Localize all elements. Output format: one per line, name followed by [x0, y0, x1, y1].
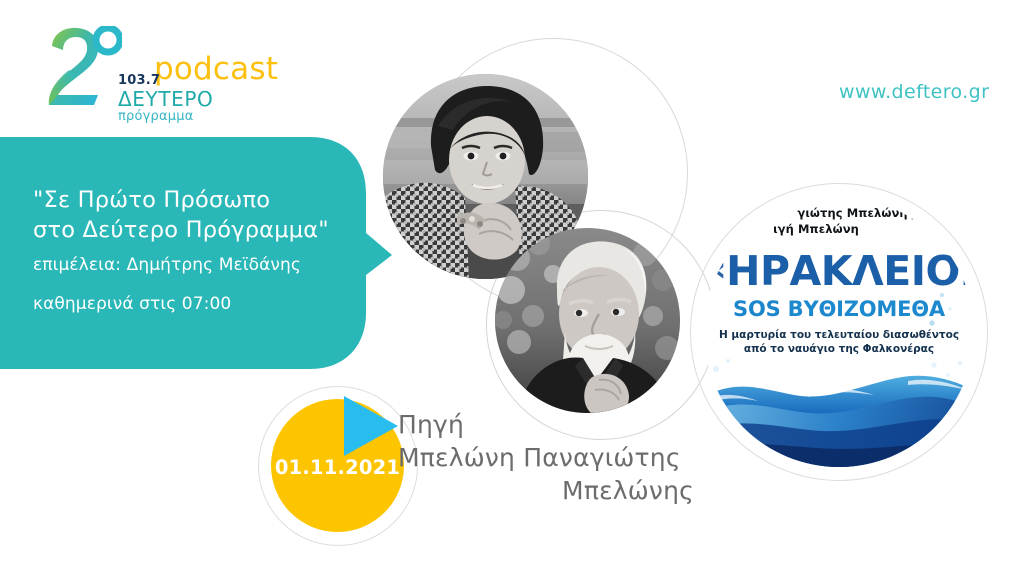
book-title: «ΗΡΑΚΛΕΙΟΝ»: [704, 251, 974, 292]
source-credit: Πηγή Μπελώνη Παναγιώτης Μπελώνης: [398, 408, 718, 507]
credit-line-2: Μπελώνη Παναγιώτης: [398, 441, 718, 474]
book-subtitle-sos: SOS: [733, 297, 781, 321]
book-author-line-1: γιώτης Μπελώνης: [704, 205, 974, 221]
guest-photo-man: [495, 228, 680, 413]
book-blurb-line-2: από το ναυάγιο της Φαλκονέρας: [704, 342, 974, 356]
deftero-two-degree-icon: [44, 26, 122, 106]
book-water-illustration: [704, 357, 974, 467]
date-badge-text: 01.11.2021: [271, 456, 404, 479]
bubble-text-block: "Σε Πρώτο Πρόσωπο στο Δεύτερο Πρόγραμμα"…: [33, 185, 363, 320]
book-title-text: ΗΡΑΚΛΕΙΟΝ: [726, 247, 974, 295]
bubble-line-1: "Σε Πρώτο Πρόσωπο: [33, 185, 363, 215]
logo-frequency: 103.7: [118, 74, 160, 87]
logo-station-sub: πρόγραμμα: [118, 110, 193, 123]
podcast-promo-card: podcast 103.7 ΔΕΥΤΕΡΟ πρόγραμμα www.deft…: [0, 0, 1021, 575]
logo-station-name: ΔΕΥΤΕΡΟ: [118, 89, 213, 109]
book-authors: γιώτης Μπελώνης ιγή Μπελώνη: [704, 205, 974, 237]
book-blurb: Η μαρτυρία του τελευταίου διασωθέντος απ…: [704, 328, 974, 356]
logo-podcast-label: podcast: [154, 54, 278, 85]
bubble-line-2: στο Δεύτερο Πρόγραμμα": [33, 215, 363, 245]
show-info-bubble: "Σε Πρώτο Πρόσωπο στο Δεύτερο Πρόγραμμα"…: [0, 137, 400, 369]
credit-line-3: Μπελώνης: [398, 474, 718, 507]
book-blurb-line-1: Η μαρτυρία του τελευταίου διασωθέντος: [704, 328, 974, 342]
book-subtitle-rest: ΒΥΘΙΖΟΜΕΘΑ: [788, 297, 945, 321]
book-cover: γιώτης Μπελώνης ιγή Μπελώνη «ΗΡΑΚΛΕΙΟΝ» …: [704, 197, 974, 467]
website-url[interactable]: www.deftero.gr: [839, 81, 989, 103]
play-triangle-icon[interactable]: [340, 392, 402, 460]
credit-line-1: Πηγή: [398, 408, 718, 441]
bubble-schedule-line: καθημερινά στις 07:00: [33, 289, 363, 320]
bubble-editor-line: επιμέλεια: Δημήτρης Μεϊδάνης: [33, 250, 363, 281]
book-author-line-2: ιγή Μπελώνη: [704, 221, 974, 237]
book-subtitle: SOS ΒΥΘΙΖΟΜΕΘΑ: [704, 299, 974, 320]
book-title-open-quote: «: [704, 250, 726, 290]
station-logo[interactable]: podcast 103.7 ΔΕΥΤΕΡΟ πρόγραμμα: [44, 26, 294, 110]
